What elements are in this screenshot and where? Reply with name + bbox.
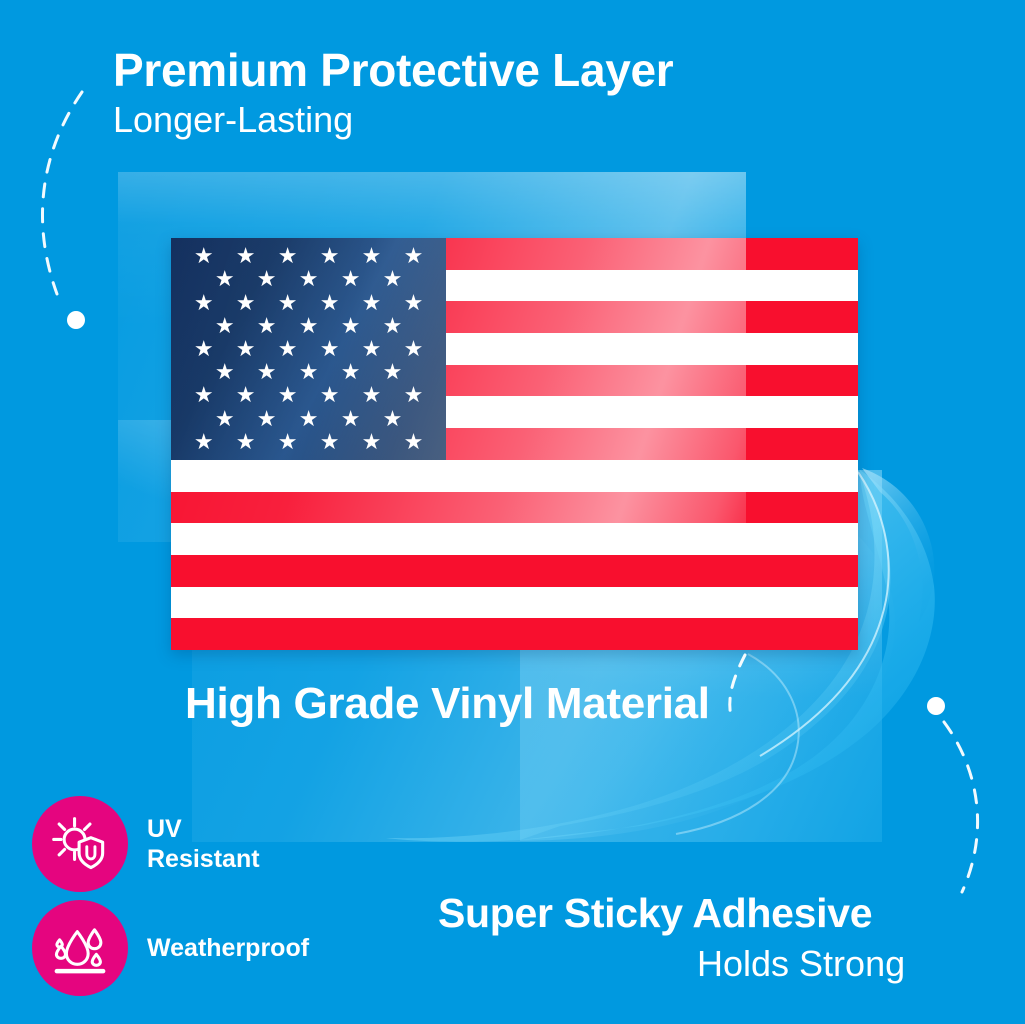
flag-star: ★ xyxy=(194,338,214,360)
page-title: Premium Protective Layer xyxy=(113,43,673,97)
feature-weatherproof: Weatherproof xyxy=(32,900,309,996)
adhesive-sublabel: Holds Strong xyxy=(697,943,905,985)
flag-canton: ★★★★★★★★★★★★★★★★★★★★★★★★★★★★★★★★★★★★★★★★… xyxy=(171,238,446,460)
flag-star: ★ xyxy=(299,408,319,430)
flag-star: ★ xyxy=(257,408,277,430)
flag-star: ★ xyxy=(194,245,214,267)
flag-star: ★ xyxy=(278,431,298,453)
flag-star: ★ xyxy=(215,315,235,337)
flag-star: ★ xyxy=(320,384,340,406)
flag-star: ★ xyxy=(383,315,403,337)
flag-star: ★ xyxy=(257,361,277,383)
flag-star: ★ xyxy=(278,384,298,406)
flag-star: ★ xyxy=(194,431,214,453)
united-states-flag: ★★★★★★★★★★★★★★★★★★★★★★★★★★★★★★★★★★★★★★★★… xyxy=(171,238,858,650)
flag-star: ★ xyxy=(215,408,235,430)
flag-stripe-white xyxy=(171,523,858,555)
page-subtitle: Longer-Lasting xyxy=(113,99,353,141)
flag-stripe-red xyxy=(171,555,858,587)
sun-shield-icon xyxy=(51,815,109,873)
vinyl-material-label: High Grade Vinyl Material xyxy=(185,679,710,729)
adhesive-label: Super Sticky Adhesive xyxy=(438,890,872,937)
flag-star: ★ xyxy=(320,431,340,453)
flag-star: ★ xyxy=(215,361,235,383)
flag-star: ★ xyxy=(278,245,298,267)
flag-star: ★ xyxy=(383,408,403,430)
flag-star: ★ xyxy=(341,408,361,430)
flag-star: ★ xyxy=(362,245,382,267)
flag-star: ★ xyxy=(320,338,340,360)
flag-star: ★ xyxy=(404,245,424,267)
flag-star: ★ xyxy=(236,384,256,406)
flag-star: ★ xyxy=(362,338,382,360)
flag-stripe-white xyxy=(171,460,858,492)
flag-star: ★ xyxy=(257,315,277,337)
flag-star: ★ xyxy=(299,268,319,290)
flag-star: ★ xyxy=(404,338,424,360)
flag-star: ★ xyxy=(362,384,382,406)
flag-star: ★ xyxy=(362,292,382,314)
weatherproof-badge xyxy=(32,900,128,996)
callout-dot-right xyxy=(927,697,945,715)
flag-star: ★ xyxy=(278,292,298,314)
uv-badge xyxy=(32,796,128,892)
flag-star: ★ xyxy=(299,315,319,337)
flag-star: ★ xyxy=(236,292,256,314)
flag-star: ★ xyxy=(404,384,424,406)
flag-star: ★ xyxy=(341,361,361,383)
flag-star: ★ xyxy=(362,431,382,453)
flag-star: ★ xyxy=(236,245,256,267)
flag-star: ★ xyxy=(404,292,424,314)
flag-star: ★ xyxy=(341,268,361,290)
flag-stripe-red xyxy=(171,492,858,524)
flag-star: ★ xyxy=(194,292,214,314)
feature-label-weatherproof: Weatherproof xyxy=(147,933,309,964)
flag-stripe-white xyxy=(171,587,858,619)
flag-star: ★ xyxy=(404,431,424,453)
water-droplets-icon xyxy=(51,919,109,977)
callout-dot-left xyxy=(67,311,85,329)
flag-stripe-red xyxy=(171,618,858,650)
flag-star: ★ xyxy=(278,338,298,360)
flag-star: ★ xyxy=(341,315,361,337)
feature-uv-resistant: UV Resistant xyxy=(32,796,260,892)
flag-star: ★ xyxy=(299,361,319,383)
feature-label-uv: UV Resistant xyxy=(147,814,260,875)
flag-star: ★ xyxy=(383,268,403,290)
flag-star: ★ xyxy=(320,292,340,314)
flag-star: ★ xyxy=(215,268,235,290)
product-infographic: ★★★★★★★★★★★★★★★★★★★★★★★★★★★★★★★★★★★★★★★★… xyxy=(0,0,1025,1024)
flag-star: ★ xyxy=(236,431,256,453)
flag-star: ★ xyxy=(383,361,403,383)
flag-star: ★ xyxy=(320,245,340,267)
flag-star: ★ xyxy=(257,268,277,290)
flag-star: ★ xyxy=(236,338,256,360)
flag-star: ★ xyxy=(194,384,214,406)
